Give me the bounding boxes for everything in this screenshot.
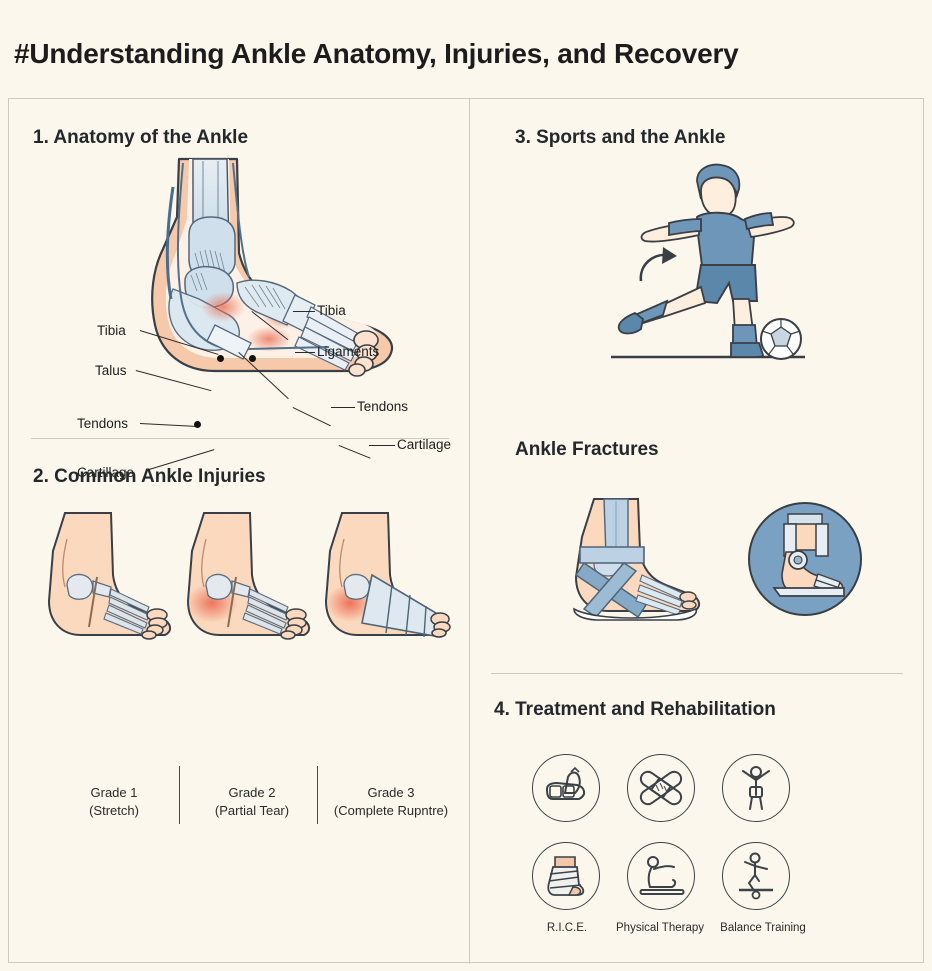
anatomy-title: 1. Anatomy of the Ankle <box>33 127 248 149</box>
bandage-cross-icon <box>628 755 694 821</box>
panel-injuries: 2. Common Ankle Injuries <box>9 439 469 964</box>
braced-ankle-illustration <box>560 497 710 627</box>
grade-separator <box>317 766 318 824</box>
icon-circle-cast-foot[interactable] <box>532 842 600 910</box>
panel-anatomy: 1. Anatomy of the Ankle <box>9 99 469 438</box>
grade-name: Grade 1 <box>91 785 138 800</box>
leader-line <box>140 423 198 427</box>
anatomy-point-tendons <box>194 421 201 428</box>
grade-item-2: Grade 2 (Partial Tear) <box>187 784 317 819</box>
grade-name: Grade 3 <box>368 785 415 800</box>
anatomy-label-talus: Talus <box>95 363 127 378</box>
leader-line <box>293 311 315 312</box>
grade-item-1: Grade 1 (Stretch) <box>49 784 179 819</box>
balance-board-person-icon <box>723 843 789 909</box>
injuries-title: 2. Common Ankle Injuries <box>33 466 266 488</box>
anatomy-point-tibia-right <box>249 355 256 362</box>
grade-separator <box>179 766 180 824</box>
walking-boot-illustration <box>740 494 870 624</box>
anatomy-label-ligaments: Ligaments <box>317 344 379 359</box>
treatment-caption-rice: R.I.C.E. <box>522 922 612 934</box>
anatomy-label-tendons-left: Tendons <box>77 416 128 431</box>
panel-treatment: 4. Treatment and Rehabilitation <box>470 674 925 964</box>
grade-item-3: Grade 3 (Complete Rupntre) <box>321 784 461 819</box>
icon-circle-physical-therapy[interactable] <box>627 842 695 910</box>
icon-circle-arms-raised[interactable] <box>722 754 790 822</box>
injury-foot-grade-3 <box>314 511 454 651</box>
icon-circle-ice-pack[interactable] <box>532 754 600 822</box>
treatment-caption-physical-therapy: Physical Therapy <box>605 922 715 934</box>
anatomy-label-tibia-right: Tibia <box>317 303 346 318</box>
stretching-person-icon <box>628 843 694 909</box>
anatomy-label-tibia-left: Tibia <box>97 323 126 338</box>
fractures-title: Ankle Fractures <box>515 439 659 461</box>
sports-title: 3. Sports and the Ankle <box>515 127 725 149</box>
injury-foot-grade-2 <box>176 511 316 651</box>
treatment-title: 4. Treatment and Rehabilitation <box>494 699 776 721</box>
soccer-player-illustration <box>605 161 820 371</box>
leader-line <box>295 352 315 353</box>
grade-name: Grade 2 <box>229 785 276 800</box>
page-title: #Understanding Ankle Anatomy, Injuries, … <box>14 38 739 70</box>
icon-circle-balance-training[interactable] <box>722 842 790 910</box>
panel-sports: 3. Sports and the Ankle <box>470 99 925 673</box>
grade-detail: (Partial Tear) <box>215 803 289 818</box>
grade-detail: (Complete Rupntre) <box>334 803 448 818</box>
infographic-board: 1. Anatomy of the Ankle <box>8 98 924 963</box>
injury-foot-grade-1 <box>37 511 177 651</box>
leader-line <box>331 407 355 408</box>
cast-foot-icon <box>533 843 599 909</box>
ice-pack-icon <box>533 755 599 821</box>
treatment-caption-balance-training: Balance Training <box>708 922 818 934</box>
grade-detail: (Stretch) <box>89 803 139 818</box>
person-arms-raised-icon <box>723 755 789 821</box>
anatomy-point-tibia <box>217 355 224 362</box>
anatomy-label-tendons-right: Tendons <box>357 399 408 414</box>
icon-circle-bandage[interactable] <box>627 754 695 822</box>
